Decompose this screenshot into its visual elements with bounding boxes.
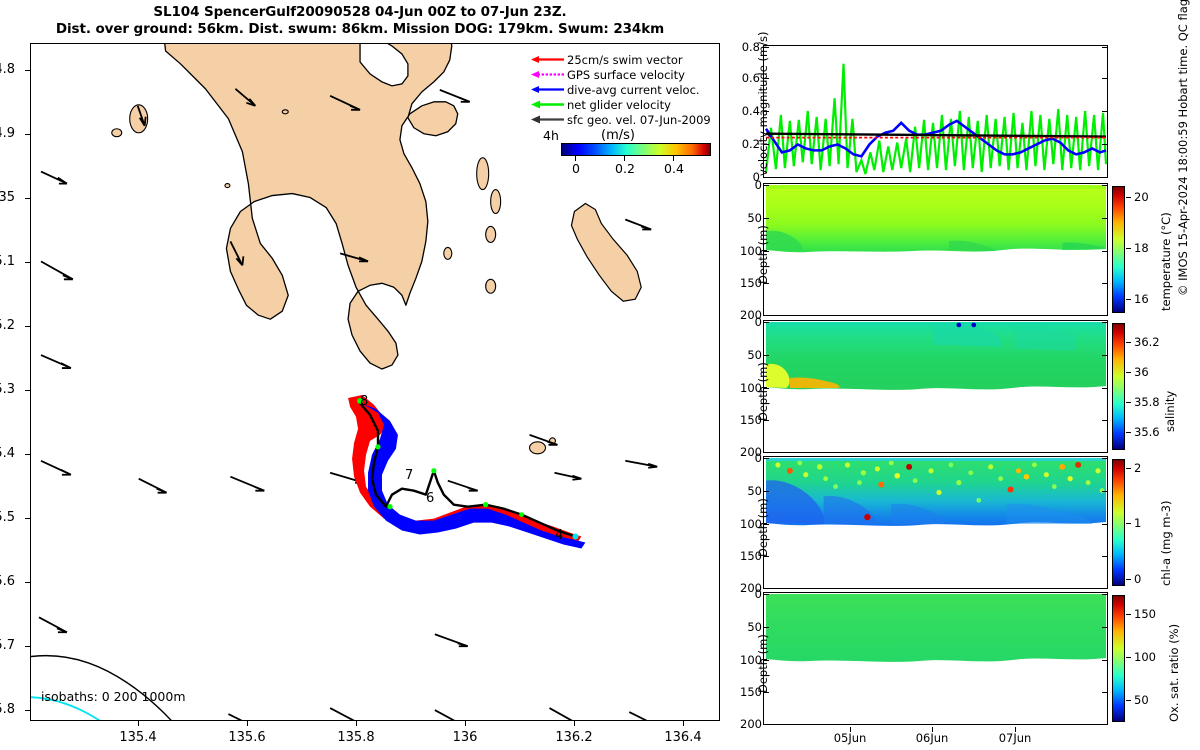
oxygen-section-panel[interactable]: Depth (m) 0 50 100 150 200	[763, 592, 1108, 725]
time-label-1: 06Jun	[902, 731, 962, 745]
legend-label-gps-velocity: GPS surface velocity	[567, 68, 685, 82]
map-ytick-label-8: 35.6	[0, 574, 15, 589]
track-end-marker	[572, 534, 578, 540]
swim-vector-arrow-icon	[531, 54, 565, 65]
map-xtick-label-0: 135.4	[103, 730, 173, 745]
velocity-ytick-3: 0.6	[720, 71, 760, 85]
map-xtick-label-1: 135.6	[212, 730, 282, 745]
legend-label-swim-vector: 25cm/s swim vector	[567, 53, 683, 67]
island-h	[530, 442, 546, 454]
map-ytick-label-4: 35.2	[0, 318, 15, 333]
legend-entry-net-glider-velocity: net glider velocity	[531, 97, 721, 112]
map-xtick-label-5: 136.4	[648, 730, 718, 745]
chla-plot-area	[764, 457, 1107, 588]
legend-entry-gps-velocity: GPS surface velocity	[531, 67, 721, 82]
map-xtick-mark-0	[138, 720, 139, 726]
velocity-plot-area	[764, 46, 1107, 177]
temperature-section-svg	[764, 184, 1107, 315]
temperature-ytick-3: 150	[722, 276, 762, 290]
salinity-ytick-0: 0	[722, 315, 762, 329]
map-ytick-mark-1	[25, 134, 31, 135]
oxygen-section-fill	[766, 595, 1106, 662]
salinity-cb-label-0: 36.2	[1134, 335, 1160, 349]
map-xtick-mark-5	[683, 720, 684, 726]
imos-credit: © IMOS 15-Apr-2024 18:00:59 Hobart time.…	[1176, 0, 1190, 296]
temperature-cb-label-0: 20	[1134, 190, 1149, 204]
salinity-colorbar: 36.2 36 35.8 35.6 salinity	[1112, 323, 1125, 450]
island-k	[225, 184, 230, 188]
map-ytick-mark-7	[25, 518, 31, 519]
dive-avg-current-arrow-icon	[531, 84, 565, 95]
land-main-peninsula	[164, 44, 458, 369]
chla-section-svg	[764, 457, 1107, 588]
map-ytick-mark-8	[25, 582, 31, 583]
map-ytick-label-6: 35.4	[0, 446, 15, 461]
map-xtick-mark-4	[574, 720, 575, 726]
map-cbar-label-2: 0.4	[659, 161, 689, 176]
temperature-surface-dots	[766, 185, 1106, 189]
legend-label-net-glider-velocity: net glider velocity	[567, 98, 671, 112]
map-cbar-label-0: 0	[561, 161, 591, 176]
page-title: SL104 SpencerGulf20090528 04-Jun 00Z to …	[0, 4, 720, 38]
chla-ytick-3: 150	[722, 549, 762, 563]
legend-label-dive-avg-current: dive-avg current veloc.	[567, 83, 700, 97]
isobaths-note: isobaths: 0 200 1000m	[41, 689, 186, 704]
chla-ytick-2: 100	[722, 517, 762, 531]
map-ytick-mark-9	[25, 646, 31, 647]
temperature-cb-title: temperature (°C)	[1159, 212, 1173, 311]
oxygen-ytick-1: 50	[722, 620, 762, 634]
island-kangaroo	[571, 204, 641, 302]
island-b	[112, 129, 122, 137]
glider-dive-markers	[348, 395, 585, 549]
net-glider-velocity-line	[766, 64, 1106, 174]
oxygen-cb-label-0: 150	[1134, 607, 1156, 621]
map-ytick-mark-0	[25, 70, 31, 71]
oxygen-section-svg	[764, 593, 1107, 724]
chla-ytick-0: 0	[722, 451, 762, 465]
salinity-ytick-3: 150	[722, 413, 762, 427]
velocity-ytick-1: 0.2	[720, 137, 760, 151]
map-colorbar: 0 0.2 0.4	[561, 143, 711, 156]
map-xtick-mark-2	[356, 720, 357, 726]
chla-surface-dots	[766, 458, 1106, 461]
map-ytick-label-0: 34.8	[0, 62, 15, 77]
temperature-ytick-1: 50	[722, 211, 762, 225]
salinity-ytick-1: 50	[722, 348, 762, 362]
time-label-0: 05Jun	[820, 731, 880, 745]
map-xtick-label-4: 136.2	[539, 730, 609, 745]
time-label-2: 07Jun	[985, 731, 1045, 745]
velocity-timeseries-panel[interactable]: velocity magnitude (m/s) 0 0.2 0.4 0.6 0…	[763, 45, 1108, 178]
scale-bar-label: 4h	[531, 128, 571, 143]
velocity-ytick-4: 0.8	[720, 40, 760, 54]
map-ytick-label-10: 35.8	[0, 702, 15, 717]
map-ytick-mark-10	[25, 710, 31, 711]
island-j	[282, 110, 288, 114]
salinity-low-outlier-1	[956, 323, 961, 328]
oxygen-cb-title: Ox. sat. ratio (%)	[1167, 624, 1181, 722]
sfc-geo-velocity-arrow-icon	[531, 114, 565, 125]
chla-colorbar: 2 1 0 chl-a (mg m-3)	[1112, 459, 1125, 586]
salinity-cb-label-2: 35.8	[1134, 395, 1160, 409]
chla-cb-title: chl-a (mg m-3)	[1159, 501, 1173, 586]
title-line-1: SL104 SpencerGulf20090528 04-Jun 00Z to …	[0, 4, 720, 21]
temperature-cb-label-1: 18	[1134, 241, 1149, 255]
legend-entry-swim-vector: 25cm/s swim vector	[531, 52, 721, 67]
map-ytick-label-1: 34.9	[0, 126, 15, 141]
temperature-colorbar: 20 18 16 temperature (°C)	[1112, 186, 1125, 313]
oxygen-ytick-0: 0	[722, 587, 762, 601]
velocity-ytick-2: 0.4	[720, 104, 760, 118]
chla-cb-label-2: 0	[1134, 572, 1141, 586]
legend-label-sfc-geo-velocity: sfc geo. vel. 07-Jun-2009	[567, 113, 711, 127]
salinity-low-outlier-2	[971, 323, 976, 328]
map-ytick-mark-5	[25, 390, 31, 391]
oxygen-cb-label-1: 100	[1134, 650, 1156, 664]
day-label-8: 8	[360, 394, 368, 409]
map-cbar-label-1: 0.2	[610, 161, 640, 176]
salinity-cb-label-1: 36	[1134, 365, 1149, 379]
salinity-ytick-2: 100	[722, 381, 762, 395]
temperature-cb-label-2: 16	[1134, 292, 1149, 306]
isobath-1000m	[31, 656, 203, 720]
oxygen-colorbar: 150 100 50 Ox. sat. ratio (%)	[1112, 595, 1125, 722]
map-xtick-mark-1	[247, 720, 248, 726]
map-ytick-label-3: 35.1	[0, 254, 15, 269]
title-line-2: Dist. over ground: 56km. Dist. swum: 86k…	[0, 21, 720, 38]
island-e	[486, 226, 496, 242]
temperature-ytick-2: 100	[722, 244, 762, 258]
temperature-section-panel[interactable]: Depth (m) 0 50 100 150 200	[763, 183, 1108, 316]
map-ytick-mark-2	[25, 198, 31, 199]
chla-cb-label-1: 1	[1134, 516, 1141, 530]
landmass-group	[164, 44, 458, 369]
glider-track-map[interactable]: 8 7 6 4 25cm/s swim vector GPS surface v…	[30, 43, 720, 721]
salinity-cb-label-3: 35.6	[1134, 425, 1160, 439]
colorbar-units-label: (m/s)	[601, 128, 635, 143]
map-ytick-label-9: 35.7	[0, 638, 15, 653]
map-colorbar-gradient	[561, 143, 711, 156]
chla-section-panel[interactable]: Depth (m) 0 50 100 150 200	[763, 456, 1108, 589]
map-ytick-label-7: 35.5	[0, 510, 15, 525]
oxygen-ytick-2: 100	[722, 653, 762, 667]
legend-scale-row: 4h (m/s)	[531, 128, 721, 143]
day-label-4: 4	[555, 528, 563, 543]
gps-velocity-arrow-icon	[531, 69, 565, 80]
map-xtick-mark-3	[465, 720, 466, 726]
map-ytick-mark-4	[25, 326, 31, 327]
day-label-7: 7	[405, 468, 413, 483]
legend-entry-dive-avg-current: dive-avg current veloc.	[531, 82, 721, 97]
oxygen-surface-dots	[766, 594, 1106, 597]
island-g	[486, 279, 496, 293]
day-label-6: 6	[426, 491, 434, 506]
salinity-plot-area	[764, 321, 1107, 452]
map-legend: 25cm/s swim vector GPS surface velocity …	[531, 52, 721, 143]
map-xtick-label-3: 136	[430, 730, 500, 745]
map-ytick-label-2: -35	[0, 190, 15, 205]
chla-cb-label-0: 2	[1134, 461, 1141, 475]
salinity-section-svg	[764, 321, 1107, 452]
map-ytick-mark-3	[25, 262, 31, 263]
chla-ytick-1: 50	[722, 484, 762, 498]
map-xtick-label-2: 135.8	[321, 730, 391, 745]
island-d	[491, 190, 501, 214]
time-axis: 05Jun 06Jun 07Jun	[763, 727, 1108, 745]
salinity-surface-dots	[766, 322, 1106, 325]
oxygen-ytick-3: 150	[722, 685, 762, 699]
salinity-cb-title: salinity	[1163, 391, 1177, 432]
temperature-ytick-0: 0	[722, 178, 762, 192]
oxygen-plot-area	[764, 593, 1107, 724]
legend-entry-sfc-geo-velocity: sfc geo. vel. 07-Jun-2009	[531, 112, 721, 127]
net-glider-velocity-arrow-icon	[531, 99, 565, 110]
island-f	[444, 247, 452, 259]
map-ytick-mark-6	[25, 454, 31, 455]
salinity-section-panel[interactable]: Depth (m) 0 50 100 150 200	[763, 320, 1108, 453]
island-c	[477, 158, 489, 190]
temperature-section-fill	[766, 186, 1106, 252]
temperature-plot-area	[764, 184, 1107, 315]
oxygen-cb-label-2: 50	[1134, 693, 1149, 707]
map-ytick-label-5: 35.3	[0, 382, 15, 397]
velocity-series-svg	[764, 46, 1107, 177]
oxygen-ytick-4: 200	[722, 717, 762, 731]
